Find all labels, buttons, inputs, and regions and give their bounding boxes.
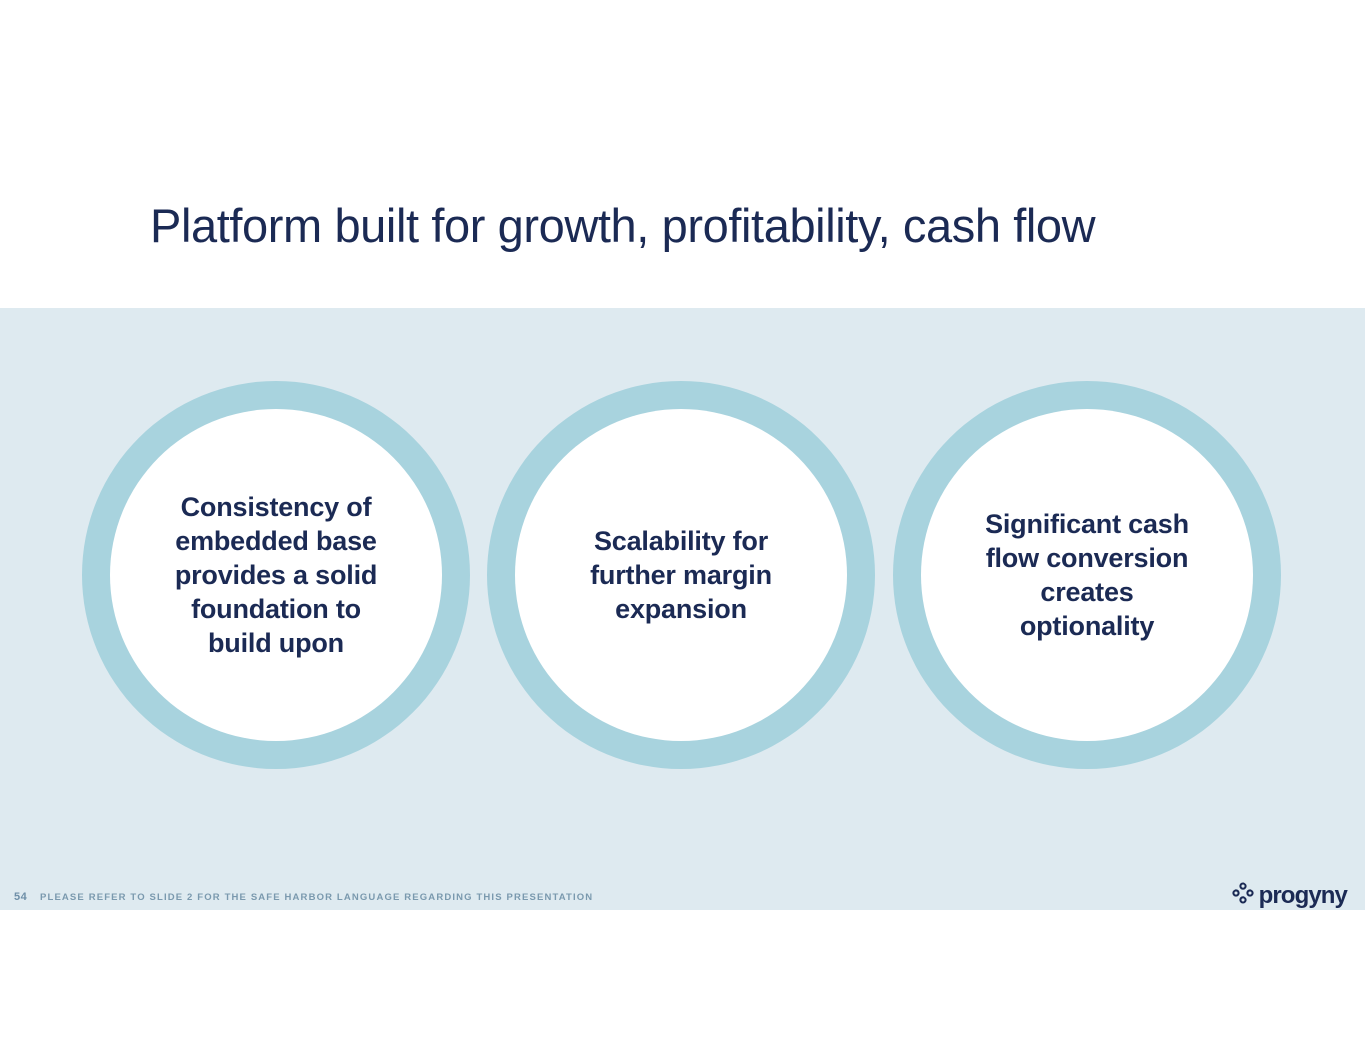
- progyny-four-petal-icon: [1231, 882, 1255, 909]
- pillar-label-consistency: Consistency of embedded base provides a …: [160, 490, 392, 660]
- safe-harbor-disclaimer: PLEASE REFER TO SLIDE 2 FOR THE SAFE HAR…: [40, 892, 593, 903]
- page-title: Platform built for growth, profitability…: [150, 196, 1095, 256]
- pillar-circle-group: Consistency of embedded base provides a …: [0, 381, 1365, 769]
- pillar-circle-scalability: Scalability for further margin expansion: [487, 381, 875, 769]
- brand-logo: progyny: [1231, 882, 1347, 909]
- pillar-circle-consistency: Consistency of embedded base provides a …: [82, 381, 470, 769]
- pillar-inner-disc: Consistency of embedded base provides a …: [110, 409, 442, 741]
- slide: Platform built for growth, profitability…: [0, 0, 1365, 1055]
- page-number: 54: [14, 891, 27, 903]
- pillar-circle-cash-flow: Significant cash flow conversion creates…: [893, 381, 1281, 769]
- pillar-label-cash-flow: Significant cash flow conversion creates…: [971, 507, 1203, 643]
- title-area: Platform built for growth, profitability…: [0, 0, 1365, 308]
- slide-footer: 54 PLEASE REFER TO SLIDE 2 FOR THE SAFE …: [0, 886, 1365, 910]
- pillar-label-scalability: Scalability for further margin expansion: [556, 524, 806, 626]
- pillar-inner-disc: Significant cash flow conversion creates…: [921, 409, 1253, 741]
- pillar-inner-disc: Scalability for further margin expansion: [515, 409, 847, 741]
- content-band: Consistency of embedded base provides a …: [0, 308, 1365, 910]
- brand-name: progyny: [1259, 884, 1347, 908]
